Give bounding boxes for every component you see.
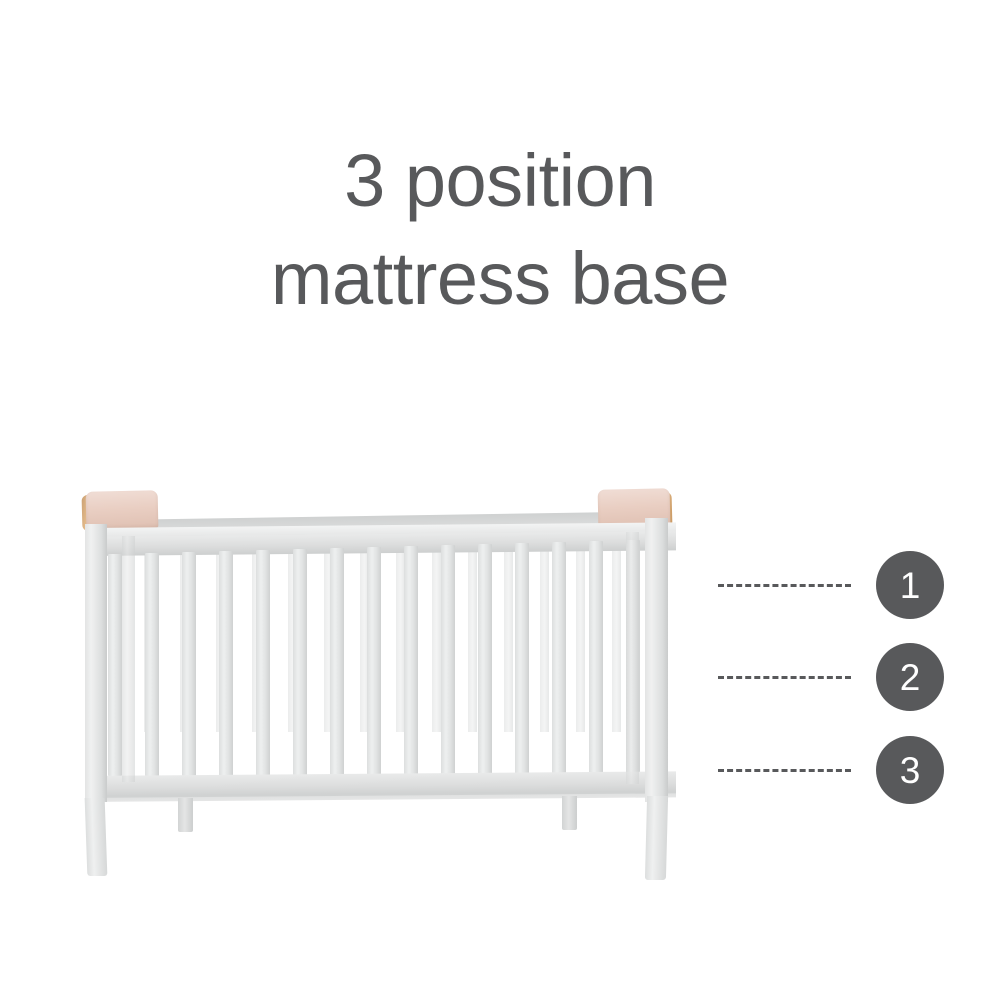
back-slat <box>432 532 441 732</box>
cot-leg-back-right <box>562 796 577 830</box>
cot-slat <box>293 549 307 776</box>
callout-leader-line-3 <box>718 769 851 772</box>
cot-slat <box>404 546 418 776</box>
cot-corner-post-left-inner <box>122 536 135 782</box>
cot-slat <box>145 553 159 776</box>
page-title-line-2: mattress base <box>0 230 1000 328</box>
cot-corner-post-left <box>85 524 107 802</box>
callout-badge-1-label: 1 <box>900 567 921 604</box>
cot-leg-front-left <box>85 798 108 876</box>
cot-slat <box>108 554 122 776</box>
cot-slat <box>515 543 529 776</box>
cot-slat <box>441 545 455 776</box>
callout-badge-2[interactable]: 2 <box>876 643 944 711</box>
page-title: 3 position mattress base <box>0 132 1000 327</box>
cot-leg-back-left <box>178 798 193 832</box>
cot-corner-post-right-inner <box>626 532 639 784</box>
callout-badge-2-label: 2 <box>900 659 921 696</box>
callout-badge-3[interactable]: 3 <box>876 736 944 804</box>
cot-bed-illustration <box>70 480 690 900</box>
cot-slat <box>182 552 196 776</box>
cot-leg-front-right <box>645 796 668 880</box>
back-slat <box>540 529 549 732</box>
callout-leader-line-2 <box>718 676 851 679</box>
cot-slat <box>552 542 566 776</box>
callout-badge-1[interactable]: 1 <box>876 551 944 619</box>
cot-slat <box>478 544 492 776</box>
cot-slat <box>330 548 344 776</box>
page-title-line-1: 3 position <box>0 132 1000 230</box>
cot-slat <box>219 551 233 776</box>
cot-slat <box>589 541 603 776</box>
callout-badge-3-label: 3 <box>900 752 921 789</box>
cot-corner-post-right <box>645 518 668 802</box>
back-slat <box>612 527 621 732</box>
cot-slat <box>367 547 381 776</box>
back-slat <box>504 530 513 732</box>
back-slat <box>576 528 585 732</box>
cot-slat <box>256 550 270 776</box>
back-slat <box>468 531 477 732</box>
callout-leader-line-1 <box>718 584 851 587</box>
infographic-canvas: 3 position mattress base <box>0 0 1000 1000</box>
